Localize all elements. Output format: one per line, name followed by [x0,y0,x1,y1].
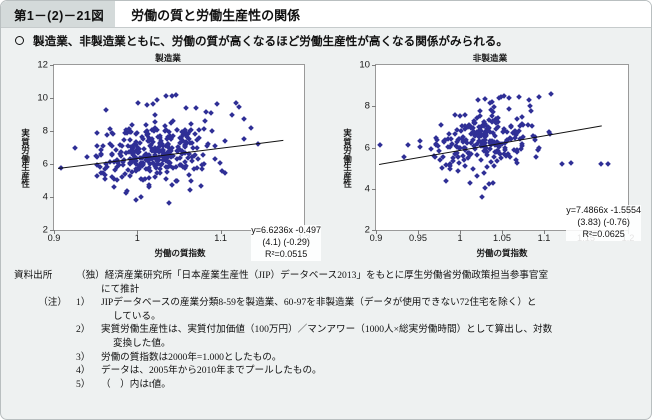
note-number: 5） [76,378,101,392]
note-item: 4） データは、2005年から2010年までプールしたもの。 [14,364,641,378]
y-axis-tick [372,106,376,107]
x-axis-tick-label: 1.05 [493,233,511,243]
scatter-point [405,143,411,149]
y-axis-tick-label: 10 [37,93,48,104]
source-text: （独）経済産業研究所「日本産業生産性（JIP）データベース2013」をもとに厚生… [76,269,641,283]
scatter-point [102,176,108,182]
y-axis-tick-label: 4 [43,192,48,203]
note-text-continued: 変換した値。 [14,337,641,351]
regression-annotation: y=6.6236x -0.497 (4.1) (-0.29) R²=0.0515 [251,225,321,261]
scatter-point [208,110,214,116]
note-item: 3） 労働の質指数は2000年=1.000としたもの。 [14,351,641,365]
scatter-point [218,160,224,166]
scatter-point [474,174,480,180]
note-number: 1） [76,296,101,310]
note-item: （注） 1） JIPデータベースの産業分類8-59を製造業、60-97を非製造業… [14,296,641,310]
y-axis-tick-label: 10 [359,60,370,71]
scatter-point [241,116,247,122]
scatter-point [438,122,444,128]
scatter-point [462,112,468,118]
scatter-point [143,122,149,128]
scatter-point [598,162,604,168]
scatter-point [236,104,242,110]
y-axis-tick [50,65,54,66]
scatter-point [163,93,169,99]
regression-tvalues: (3.83) (-0.76) [566,217,641,229]
scatter-point [103,107,109,113]
y-axis-tick-label: 8 [365,101,370,112]
scatter-point [152,112,158,118]
scatter-point [474,152,480,158]
scatter-point [417,144,423,150]
scatter-point [187,187,193,193]
y-axis-tick [372,65,376,66]
scatter-point [175,178,181,184]
scatter-point [198,183,204,189]
scatter-point [417,138,423,144]
note-label: （注） [14,296,76,310]
chart-title: 非製造業 [331,52,649,64]
scatter-point [484,164,490,170]
scatter-point [491,163,497,169]
scatter-point [516,94,522,100]
regression-r2: R²=0.0515 [251,249,321,261]
scatter-point [203,109,209,115]
scatter-point [193,105,199,111]
scatter-point [456,168,462,174]
x-axis-tick-label: 0.9 [48,233,61,243]
scatter-point [187,172,193,178]
scatter-point [463,163,469,169]
note-text: （ ）内はt値。 [101,378,641,392]
figure-card: 第1－(2)－21図 労働の質と労働生産性の関係 製造業、非製造業ともに、労働の… [0,0,652,420]
y-axis-tick [50,98,54,99]
regression-equation: y=6.6236x -0.497 [251,225,321,237]
y-axis-tick-label: 6 [365,142,370,153]
scatter-point [519,114,525,120]
scatter-point [214,101,220,107]
scatter-point [568,160,574,166]
scatter-point [504,129,510,135]
scatter-point [171,118,177,124]
scatter-point [526,97,532,103]
scatter-point [183,105,189,111]
source-label: 資料出所 [14,269,76,283]
y-axis-tick-label: 6 [43,159,48,170]
scatter-point [164,169,170,175]
plot-area: 246810120.911.11.2 [53,64,305,231]
notes-section: 資料出所 （独）経済産業研究所「日本産業生産性（JIP）データベース2013」を… [1,269,652,391]
scatter-point [478,157,484,163]
note-text: 労働の質指数は2000年=1.000としたもの。 [101,351,641,365]
scatter-point [120,162,126,168]
scatter-point [138,194,144,200]
y-axis-tick-label: 12 [37,60,48,71]
y-axis-tick [50,164,54,165]
chart-panel-non-manufacturing: 非製造業 実質労働生産性 2468100.90.9511.051.11.151.… [331,51,649,267]
lead-statement: 製造業、非製造業ともに、労働の質が高くなるほど労働生産性が高くなる関係がみられる… [1,28,652,53]
x-axis-tick-label: 0.9 [370,233,383,243]
scatter-point [133,131,139,137]
note-item: 2） 実質労働生産性は、実質付加価値（100万円）／マンアワー（1000人×総実… [14,323,641,337]
scatter-point [506,96,512,102]
scatter-point [209,128,215,134]
scatter-point [476,98,482,104]
source-row: 資料出所 （独）経済産業研究所「日本産業生産性（JIP）データベース2013」を… [14,269,641,283]
scatter-point [94,130,100,136]
figure-header: 第1－(2)－21図 労働の質と労働生産性の関係 [1,1,652,28]
chart-panels: 製造業 実質労働生産性 246810120.911.11.2 労働の質指数 y=… [1,51,652,267]
y-axis-tick [372,189,376,190]
note-number: 4） [76,364,101,378]
scatter-point [605,161,611,167]
scatter-point [163,176,169,182]
x-axis-tick-label: 1 [135,233,140,243]
scatter-point [548,91,554,97]
scatter-point [241,136,247,142]
y-axis-tick [50,197,54,198]
note-item: 5） （ ）内はt値。 [14,378,641,392]
scatter-point [133,197,139,203]
y-axis-title: 実質労働生産性 [19,129,32,189]
scatter-point [203,118,209,124]
scatter-point [528,108,534,114]
scatter-point [222,138,228,144]
y-axis-tick [372,148,376,149]
regression-equation: y=7.4866x -1.5554 [566,205,641,217]
regression-annotation: y=7.4866x -1.5554 (3.83) (-0.76) R²=0.06… [566,205,641,241]
scatter-point [124,188,130,194]
scatter-point [129,122,135,128]
scatter-point [84,154,90,160]
x-axis-tick-label: 1.1 [214,233,227,243]
scatter-point [154,97,160,103]
scatter-point [200,152,206,158]
x-axis-tick-label: 0.95 [409,233,427,243]
scatter-point [72,145,78,151]
note-text: データは、2005年から2010年までプールしたもの。 [101,364,641,378]
y-axis-tick [50,131,54,132]
note-text: 実質労働生産性は、実質付加価値（100万円）／マンアワー（1000人×総実労働時… [101,323,641,337]
x-axis-title: 労働の質指数 [375,247,629,259]
scatter-point [111,184,117,190]
scatter-point [535,147,541,153]
scatter-point [479,195,485,201]
regression-tvalues: (4.1) (-0.29) [251,237,321,249]
scatter-point [229,112,235,118]
scatter-point [536,94,542,100]
note-text: JIPデータベースの産業分類8-59を製造業、60-97を非製造業（データが使用… [101,296,641,310]
chart-title: 製造業 [9,52,327,64]
x-axis-tick-label: 1.1 [538,233,551,243]
scatter-point [443,178,449,184]
scatter-point [529,123,535,129]
scatter-point [429,146,435,152]
scatter-point [150,101,156,107]
note-number: 2） [76,323,101,337]
circle-bullet-icon [15,36,24,45]
scatter-point [467,180,473,186]
scatter-point [248,125,254,131]
page-title: 労働の質と労働生産性の関係 [115,1,652,27]
scatter-point [482,185,488,191]
scatter-point [481,170,487,176]
x-axis-tick-label: 1 [457,233,462,243]
scatter-point [152,119,158,125]
scatter-point [452,131,458,137]
y-axis-tick-label: 4 [365,183,370,194]
scatter-point [188,178,194,184]
scatter-point [196,156,202,162]
scatter-point [135,100,141,106]
scatter-point [560,161,566,167]
figure-number: 第1－(2)－21図 [1,1,115,27]
scatter-point [533,154,539,160]
scatter-point [514,116,520,122]
scatter-point [377,142,383,148]
regression-r2: R²=0.0625 [566,229,641,241]
chart-panel-manufacturing: 製造業 実質労働生産性 246810120.911.11.2 労働の質指数 y=… [9,51,327,267]
lead-statement-text: 製造業、非製造業ともに、労働の質が高くなるほど労働生産性が高くなる関係がみられる… [33,33,508,49]
scatter-plot-surface [54,65,304,230]
note-text-continued: している。 [14,310,641,324]
source-text-continued: にて推計 [14,283,641,297]
scatter-point [506,106,512,112]
y-axis-tick-label: 8 [43,126,48,137]
scatter-point [166,200,172,206]
y-axis-title: 実質労働生産性 [341,129,354,189]
scatter-point [470,166,476,172]
note-number: 3） [76,351,101,365]
